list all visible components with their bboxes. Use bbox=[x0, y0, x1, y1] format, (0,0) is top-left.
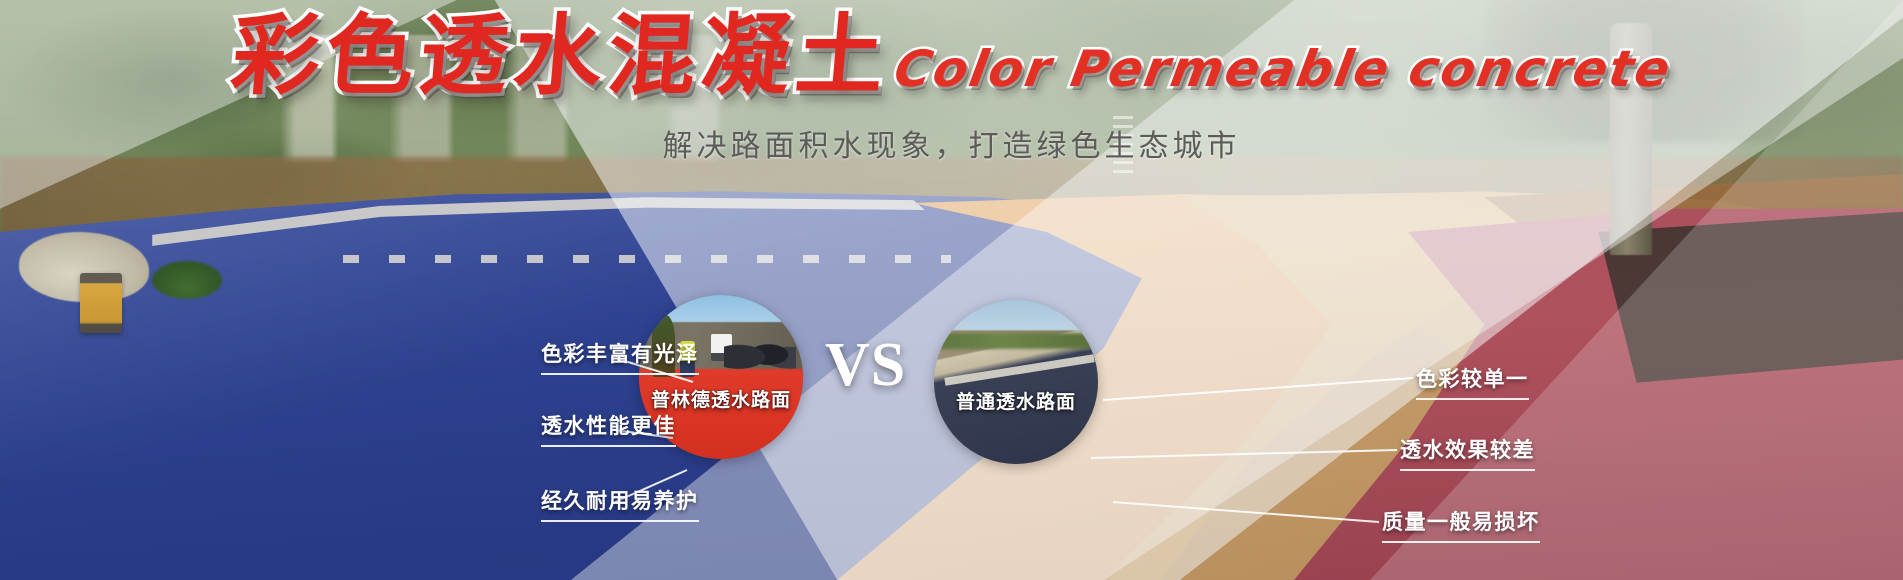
connector-lines-right bbox=[1085, 352, 1425, 580]
feature-left-1: 色彩丰富有光泽 bbox=[541, 338, 699, 375]
vs-label: VS bbox=[825, 330, 906, 401]
feature-right-2: 透水效果较差 bbox=[1400, 434, 1535, 471]
page-title-chinese: 彩色透水混凝土 bbox=[228, 8, 894, 103]
feature-left-2: 透水性能更佳 bbox=[541, 410, 676, 447]
page-title-english: Color Permeable concrete bbox=[890, 42, 1676, 97]
feature-right-3: 质量一般易损坏 bbox=[1382, 506, 1540, 543]
headline-block: 彩色透水混凝土 Color Permeable concrete 解决路面积水现… bbox=[0, 8, 1903, 165]
photo-ordinary-road bbox=[934, 300, 1098, 464]
product-circle-ordinary[interactable]: 普通透水路面 bbox=[934, 300, 1098, 464]
feature-left-3: 经久耐用易养护 bbox=[541, 485, 699, 522]
feature-right-1: 色彩较单一 bbox=[1416, 363, 1529, 400]
tagline: 解决路面积水现象，打造绿色生态城市 bbox=[0, 121, 1903, 165]
promo-banner: 彩色透水混凝土 Color Permeable concrete 解决路面积水现… bbox=[0, 0, 1903, 580]
circle-label-ordinary: 普通透水路面 bbox=[934, 387, 1098, 414]
